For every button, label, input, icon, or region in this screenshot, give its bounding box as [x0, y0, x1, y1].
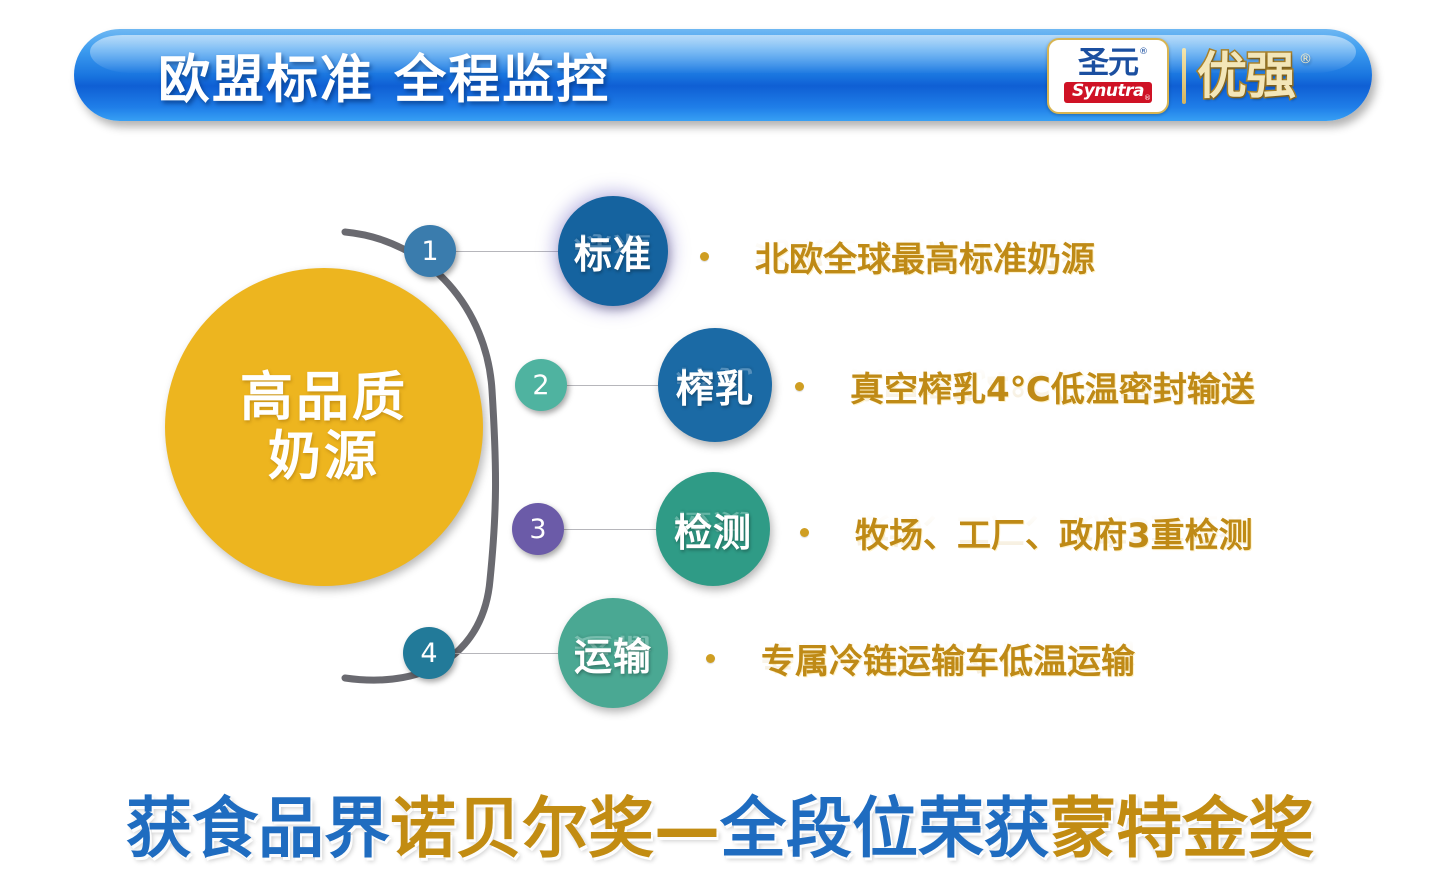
step-badge-1-number: 1	[421, 236, 438, 267]
step-node-3-label: 检测	[674, 502, 752, 557]
connector-line-2	[562, 385, 662, 386]
step-badge-2[interactable]: 2	[515, 359, 567, 411]
logo-brand-cn-text: 圣元 ®	[1078, 48, 1138, 79]
step-node-2-label: 榨乳	[676, 358, 754, 413]
step-node-4[interactable]: 运输 运输	[558, 598, 668, 708]
registered-mark-icon: ®	[1139, 48, 1147, 57]
bullet-text-wrap-2: 真空榨乳4℃低温密封输送 真空榨乳4℃低温密封输送	[850, 362, 1255, 411]
process-diagram: 高品质 奶源 1 2 3 4 标准 标准 榨乳 榨乳 检测	[0, 150, 1440, 750]
logo-en-plate: Synutra ®	[1064, 82, 1152, 103]
vertical-divider-icon	[1182, 48, 1186, 104]
hub-label-line2: 奶源	[268, 427, 380, 486]
slide-root: 欧盟标准 全程监控 圣元 ® Synutra ® 优强 ® 高品质 奶源	[0, 0, 1440, 893]
step-node-3[interactable]: 检测 检测	[656, 472, 770, 586]
logo-badge: 圣元 ® Synutra ®	[1047, 38, 1169, 114]
footline-part-1: 获食品界	[126, 790, 390, 867]
step-badge-2-number: 2	[532, 370, 549, 401]
footline-part-3: 全段位荣获	[720, 790, 1050, 867]
bullet-row-2: 真空榨乳4℃低温密封输送 真空榨乳4℃低温密封输送	[795, 362, 1255, 411]
bullet-text-3: 牧场、工厂、政府3重检测	[855, 516, 1253, 556]
connector-line-1	[452, 251, 562, 252]
logo-sub-brand: 优强 ®	[1197, 51, 1295, 101]
bullet-row-3: 牧场、工厂、政府3重检测 牧场、工厂、政府3重检测	[800, 508, 1253, 557]
bullet-text-1: 北欧全球最高标准奶源	[755, 240, 1095, 280]
page-title: 欧盟标准 全程监控	[158, 38, 610, 113]
logo-brand-cn-label: 圣元	[1078, 45, 1138, 81]
registered-mark-icon-sub: ®	[1299, 53, 1311, 66]
step-badge-1[interactable]: 1	[404, 225, 456, 277]
logo-sub-brand-label: 优强	[1197, 47, 1295, 105]
bullet-text-2: 真空榨乳4℃低温密封输送	[850, 370, 1255, 410]
step-badge-3[interactable]: 3	[512, 503, 564, 555]
bullet-dot-icon-3	[800, 528, 809, 537]
step-node-1[interactable]: 标准 标准	[558, 196, 668, 306]
footline-part-2: 诺贝尔奖—	[390, 790, 720, 867]
bullet-dot-icon-1	[700, 252, 709, 261]
logo-brand-en-label: Synutra	[1072, 83, 1144, 101]
bullet-text-4: 专属冷链运输车低温运输	[761, 642, 1135, 682]
brand-logo: 圣元 ® Synutra ® 优强 ®	[1047, 36, 1347, 116]
footline-part-4: 蒙特金奖	[1050, 790, 1314, 867]
connector-line-4	[450, 653, 565, 654]
step-node-1-label: 标准	[574, 224, 652, 279]
step-badge-4-number: 4	[420, 638, 437, 669]
footer-headline: 获食品界诺贝尔奖—全段位荣获蒙特金奖	[0, 775, 1440, 871]
bullet-text-wrap-1: 北欧全球最高标准奶源 北欧全球最高标准奶源	[755, 232, 1095, 281]
connector-line-3	[558, 529, 658, 530]
bullet-text-wrap-3: 牧场、工厂、政府3重检测 牧场、工厂、政府3重检测	[855, 508, 1253, 557]
bullet-text-wrap-4: 专属冷链运输车低温运输 专属冷链运输车低温运输	[761, 634, 1135, 683]
step-node-2[interactable]: 榨乳 榨乳	[658, 328, 772, 442]
hub-circle: 高品质 奶源	[165, 268, 483, 586]
registered-mark-icon-small: ®	[1144, 94, 1151, 102]
bullet-dot-icon-4	[706, 654, 715, 663]
bullet-dot-icon-2	[795, 382, 804, 391]
bullet-row-4: 专属冷链运输车低温运输 专属冷链运输车低温运输	[706, 634, 1135, 683]
step-badge-3-number: 3	[529, 514, 546, 545]
step-node-4-label: 运输	[574, 626, 652, 681]
step-badge-4[interactable]: 4	[403, 627, 455, 679]
bullet-row-1: 北欧全球最高标准奶源 北欧全球最高标准奶源	[700, 232, 1095, 281]
hub-label-line1: 高品质	[240, 368, 408, 427]
